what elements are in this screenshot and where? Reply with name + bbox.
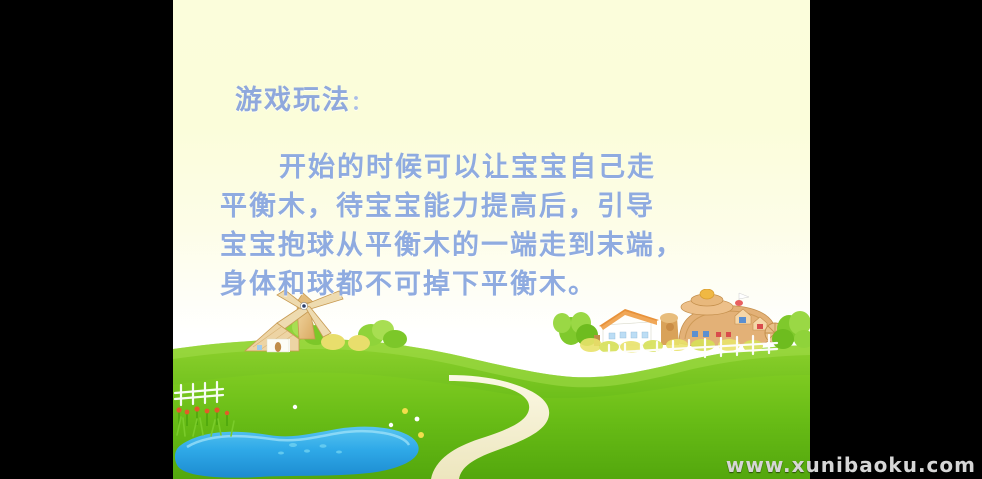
slide-frame: 游戏玩法： 开始的时候可以让宝宝自己走 平衡木，待宝宝能力提高后，引导 宝宝抱球… <box>173 0 810 479</box>
slide-body: 开始的时候可以让宝宝自己走 平衡木，待宝宝能力提高后，引导 宝宝抱球从平衡木的一… <box>220 148 765 304</box>
letterbox-bar-right <box>810 0 982 479</box>
slide-title: 游戏玩法： <box>235 78 371 117</box>
body-line: 平衡木，待宝宝能力提高后，引导 <box>220 187 765 226</box>
body-line: 宝宝抱球从平衡木的一端走到末端， <box>220 226 765 265</box>
body-line: 身体和球都不可掉下平衡木。 <box>220 265 765 304</box>
text-layer: 游戏玩法： 开始的时候可以让宝宝自己走 平衡木，待宝宝能力提高后，引导 宝宝抱球… <box>173 0 810 479</box>
slide-title-colon: ： <box>351 90 371 114</box>
body-line: 开始的时候可以让宝宝自己走 <box>220 148 765 187</box>
site-watermark: www.xunibaoku.com <box>726 453 976 477</box>
video-frame-stage: 游戏玩法： 开始的时候可以让宝宝自己走 平衡木，待宝宝能力提高后，引导 宝宝抱球… <box>0 0 982 479</box>
letterbox-bar-left <box>0 0 173 479</box>
slide-title-text: 游戏玩法 <box>235 85 351 116</box>
